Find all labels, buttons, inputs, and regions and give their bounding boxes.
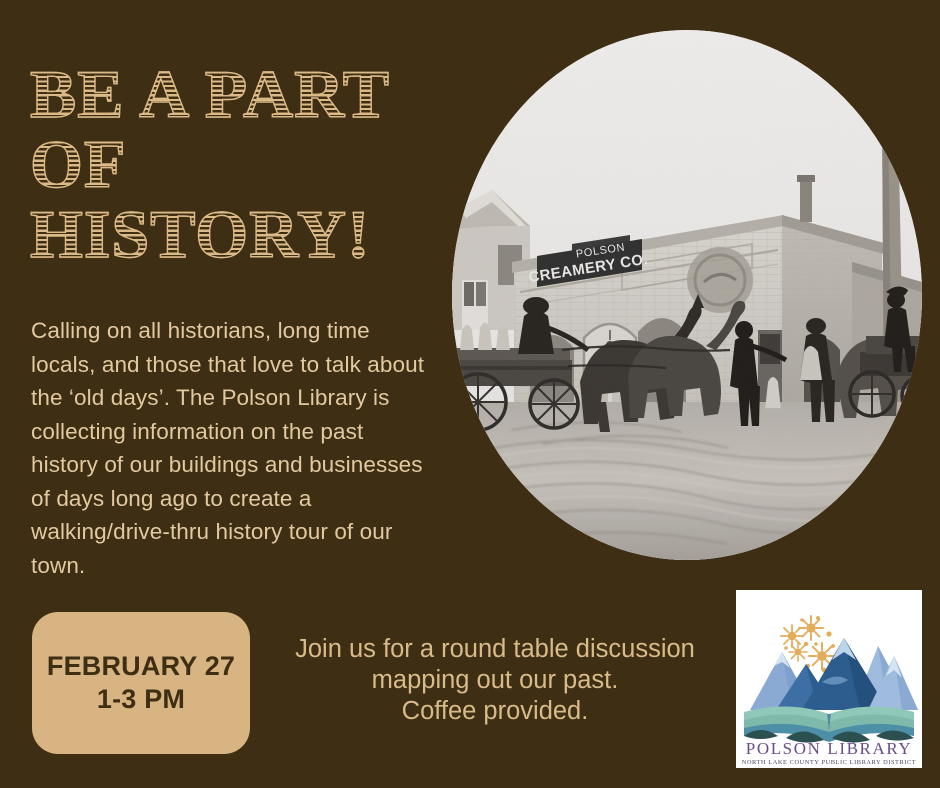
join-copy-line-2: mapping out our past.: [258, 665, 732, 696]
badge-date: FEBRUARY 27: [47, 650, 235, 683]
badge-time: 1-3 PM: [97, 683, 185, 716]
join-copy-line-1: Join us for a round table discussion: [258, 634, 732, 665]
headline-line-1: BE A PART: [30, 62, 458, 128]
date-badge: FEBRUARY 27 1-3 PM: [32, 612, 250, 754]
logo-illustration: POLSON LIBRARY NORTH LAKE COUNTY PUBLIC …: [736, 590, 922, 768]
historic-photo: POLSON CREAMERY CO.: [452, 30, 922, 560]
logo-name: POLSON LIBRARY: [746, 739, 912, 758]
body-paragraph: Calling on all historians, long time loc…: [31, 314, 435, 582]
historic-photo-illustration: POLSON CREAMERY CO.: [452, 30, 922, 560]
logo-tagline: NORTH LAKE COUNTY PUBLIC LIBRARY DISTRIC…: [742, 759, 917, 766]
polson-library-logo: POLSON LIBRARY NORTH LAKE COUNTY PUBLIC …: [736, 590, 922, 768]
headline-line-3: HISTORY!: [30, 202, 450, 268]
headline-line-1-wrap: BE A PART BE A PART: [30, 62, 450, 128]
headline-line-2-wrap: OF OF: [30, 132, 450, 198]
poster-canvas: BE A PART BE A PART OF OF HISTORY! HISTO…: [0, 0, 940, 788]
headline-line-3-wrap: HISTORY! HISTORY!: [30, 202, 450, 268]
headline-line-2: OF: [30, 132, 450, 198]
join-copy-line-3: Coffee provided.: [258, 696, 732, 727]
headline-block: BE A PART BE A PART OF OF HISTORY! HISTO…: [30, 62, 450, 268]
join-copy-block: Join us for a round table discussion map…: [258, 634, 732, 727]
